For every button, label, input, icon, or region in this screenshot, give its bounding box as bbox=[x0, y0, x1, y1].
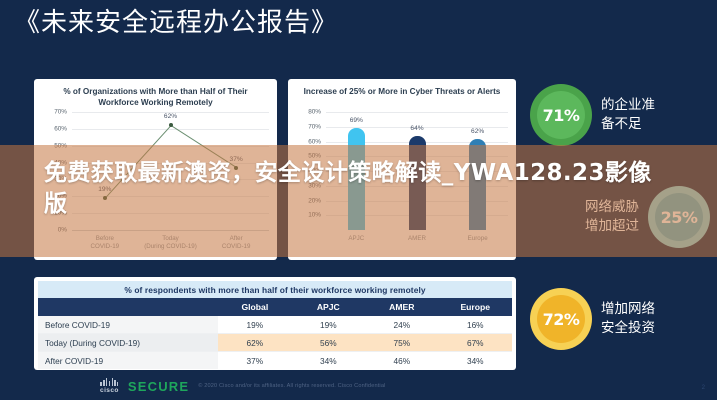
table-cell: 19% bbox=[218, 316, 291, 334]
y-axis-tick: 60% bbox=[54, 125, 67, 132]
slide-footer: cisco SECURE © 2020 Cisco and/or its aff… bbox=[0, 372, 717, 400]
y-axis-tick: 70% bbox=[54, 109, 67, 116]
donut-value: 71% bbox=[543, 106, 580, 125]
y-axis-tick: 70% bbox=[308, 123, 321, 130]
gridline bbox=[72, 163, 269, 164]
table-cell: 75% bbox=[365, 334, 438, 352]
donut-ring-25: 25% bbox=[648, 186, 710, 248]
x-axis-label: Today (During COVID-19) bbox=[144, 235, 197, 251]
table-body: Before COVID-1919%19%24%16%Today (During… bbox=[38, 316, 512, 369]
table-column-header: Global bbox=[218, 298, 291, 316]
y-axis-tick: 10% bbox=[54, 210, 67, 217]
page-number: 2 bbox=[702, 385, 705, 391]
table-cell: 16% bbox=[439, 316, 512, 334]
stat-badge-investment: 72% 增加网络 安全投资 bbox=[530, 288, 710, 350]
bar bbox=[348, 128, 365, 230]
y-axis-tick: 20% bbox=[54, 193, 67, 200]
bar-chart-card: Increase of 25% or More in Cyber Threats… bbox=[288, 79, 516, 260]
data-point-label: 62% bbox=[164, 113, 177, 120]
table-row: Before COVID-1919%19%24%16% bbox=[38, 316, 512, 334]
table-row-header: After COVID-19 bbox=[38, 352, 218, 370]
cisco-logo-icon: cisco bbox=[100, 378, 119, 394]
table-cell: 34% bbox=[439, 352, 512, 370]
table-row-header: Before COVID-19 bbox=[38, 316, 218, 334]
donut-value: 25% bbox=[661, 208, 698, 227]
x-axis-label: After COVID-19 bbox=[222, 235, 251, 251]
gridline bbox=[72, 179, 269, 180]
data-point-label: 19% bbox=[98, 186, 111, 193]
bar-value-label: 62% bbox=[471, 128, 484, 135]
y-axis-tick: 40% bbox=[54, 159, 67, 166]
x-axis-label: APJC bbox=[348, 235, 364, 243]
copyright-text: © 2020 Cisco and/or its affiliates. All … bbox=[198, 383, 385, 389]
bar bbox=[469, 139, 486, 230]
y-axis-tick: 50% bbox=[54, 142, 67, 149]
table-cell: 46% bbox=[365, 352, 438, 370]
table-cell: 34% bbox=[292, 352, 365, 370]
y-axis-tick: 10% bbox=[308, 212, 321, 219]
gridline bbox=[326, 112, 508, 113]
presentation-slide: 《未来安全远程办公报告》 % of Organizations with Mor… bbox=[0, 0, 717, 400]
table-header-row: GlobalAPJCAMEREurope bbox=[38, 298, 512, 316]
y-axis-tick: 50% bbox=[308, 153, 321, 160]
bar-value-label: 64% bbox=[410, 125, 423, 132]
table-row: After COVID-1937%34%46%34% bbox=[38, 352, 512, 370]
x-axis-label: Before COVID-19 bbox=[91, 235, 120, 251]
line-chart-card: % of Organizations with More than Half o… bbox=[34, 79, 277, 260]
y-axis-tick: 30% bbox=[54, 176, 67, 183]
y-axis-tick: 40% bbox=[308, 168, 321, 175]
donut-ring-71: 71% bbox=[530, 84, 592, 146]
table-cell: 56% bbox=[292, 334, 365, 352]
badge-label: 网络威胁 增加超过 bbox=[585, 198, 639, 236]
donut-value: 72% bbox=[543, 310, 580, 329]
y-axis-tick: 30% bbox=[308, 182, 321, 189]
cisco-bars-icon bbox=[100, 378, 118, 386]
badge-label: 增加网络 安全投资 bbox=[601, 300, 655, 338]
badge-label: 的企业准 备不足 bbox=[601, 96, 655, 134]
table-cell: 62% bbox=[218, 334, 291, 352]
gridline bbox=[72, 213, 269, 214]
data-point bbox=[103, 196, 107, 200]
x-axis-label: AMER bbox=[408, 235, 426, 243]
gridline bbox=[72, 146, 269, 147]
bar-chart-title: Increase of 25% or More in Cyber Threats… bbox=[288, 86, 516, 97]
data-point bbox=[234, 166, 238, 170]
table-caption: % of respondents with more than half of … bbox=[38, 281, 512, 298]
y-axis-tick: 80% bbox=[308, 109, 321, 116]
secure-wordmark: SECURE bbox=[128, 379, 189, 394]
stat-badge-unprepared: 71% 的企业准 备不足 bbox=[530, 84, 710, 146]
gridline bbox=[72, 196, 269, 197]
cisco-wordmark: cisco bbox=[100, 387, 119, 394]
data-point-label: 37% bbox=[230, 156, 243, 163]
stat-badge-threats: 25% 网络威胁 增加超过 bbox=[530, 186, 710, 248]
table-header: GlobalAPJCAMEREurope bbox=[38, 298, 512, 316]
respondents-table-card: % of respondents with more than half of … bbox=[34, 277, 516, 370]
table-cell: 67% bbox=[439, 334, 512, 352]
table-column-header: AMER bbox=[365, 298, 438, 316]
donut-ring-72: 72% bbox=[530, 288, 592, 350]
line-chart-title: % of Organizations with More than Half o… bbox=[34, 86, 277, 108]
line-chart-plot-area: 0%10%20%30%40%50%60%70%19%Before COVID-1… bbox=[72, 112, 269, 230]
table-cell: 19% bbox=[292, 316, 365, 334]
table-column-header: APJC bbox=[292, 298, 365, 316]
table-row-header: Today (During COVID-19) bbox=[38, 334, 218, 352]
bar bbox=[409, 136, 426, 230]
y-axis-tick: 60% bbox=[308, 138, 321, 145]
x-axis-label: Europe bbox=[468, 235, 488, 243]
table-column-header: Europe bbox=[439, 298, 512, 316]
table-corner-cell bbox=[38, 298, 218, 316]
page-title: 《未来安全远程办公报告》 bbox=[14, 6, 338, 40]
bar-chart-plot-area: 10%20%30%40%50%60%70%80%69%APJC64%AMER62… bbox=[326, 112, 508, 230]
gridline bbox=[72, 230, 269, 231]
respondents-table: % of respondents with more than half of … bbox=[38, 281, 512, 369]
gridline bbox=[72, 129, 269, 130]
bar-value-label: 69% bbox=[350, 117, 363, 124]
table-cell: 24% bbox=[365, 316, 438, 334]
y-axis-tick: 0% bbox=[58, 227, 67, 234]
table-cell: 37% bbox=[218, 352, 291, 370]
y-axis-tick: 20% bbox=[308, 197, 321, 204]
table-row: Today (During COVID-19)62%56%75%67% bbox=[38, 334, 512, 352]
